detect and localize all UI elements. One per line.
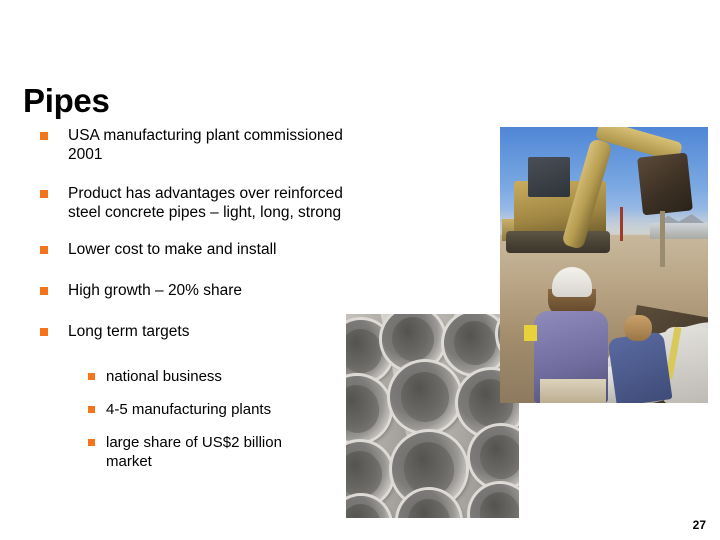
yellow-tag xyxy=(524,325,537,341)
far-buildings xyxy=(650,223,708,239)
excavator-cab xyxy=(528,157,570,197)
bullet-square-icon xyxy=(40,246,48,254)
worker-two-body xyxy=(608,331,673,403)
bullet-square-icon xyxy=(40,328,48,336)
list-item-label: large share of US$2 billion market xyxy=(106,433,302,471)
slide: Pipes USA manufacturing plant commission… xyxy=(0,0,720,540)
list-item-label: Long term targets xyxy=(68,322,350,341)
list-item-label: national business xyxy=(106,367,350,386)
stacked-pipes-photo xyxy=(346,314,519,518)
list-item: 4-5 manufacturing plants xyxy=(0,400,350,419)
list-item-label: USA manufacturing plant commissioned 200… xyxy=(68,126,350,164)
list-item: Lower cost to make and install xyxy=(0,240,350,259)
worker-two-head xyxy=(624,315,652,341)
bullet-square-icon xyxy=(88,406,95,413)
red-pole xyxy=(620,207,623,241)
construction-site-photo xyxy=(500,127,708,403)
page-title: Pipes xyxy=(23,84,110,119)
sub-bullet-list: national business 4-5 manufacturing plan… xyxy=(0,367,350,471)
worker-one-shorts xyxy=(540,379,606,403)
list-item-label: 4-5 manufacturing plants xyxy=(106,400,350,419)
excavator-tracks xyxy=(506,231,610,253)
list-item: High growth – 20% share xyxy=(0,281,350,300)
excavator-bucket xyxy=(637,153,693,216)
list-item: Long term targets xyxy=(0,322,350,341)
list-item-label: High growth – 20% share xyxy=(68,281,350,300)
bullet-square-icon xyxy=(40,190,48,198)
list-item: large share of US$2 billion market xyxy=(0,433,350,471)
bullet-square-icon xyxy=(40,132,48,140)
list-item-label: Product has advantages over reinforced s… xyxy=(68,184,350,222)
list-item: USA manufacturing plant commissioned 200… xyxy=(0,126,350,164)
bullet-list: USA manufacturing plant commissioned 200… xyxy=(0,126,350,471)
bullet-square-icon xyxy=(40,287,48,295)
list-item-label: Lower cost to make and install xyxy=(68,240,350,259)
bullet-square-icon xyxy=(88,373,95,380)
excavator-bucket-arm xyxy=(660,211,665,267)
page-number: 27 xyxy=(693,518,706,532)
list-item: Product has advantages over reinforced s… xyxy=(0,184,350,222)
bullet-square-icon xyxy=(88,439,95,446)
list-item: national business xyxy=(0,367,350,386)
